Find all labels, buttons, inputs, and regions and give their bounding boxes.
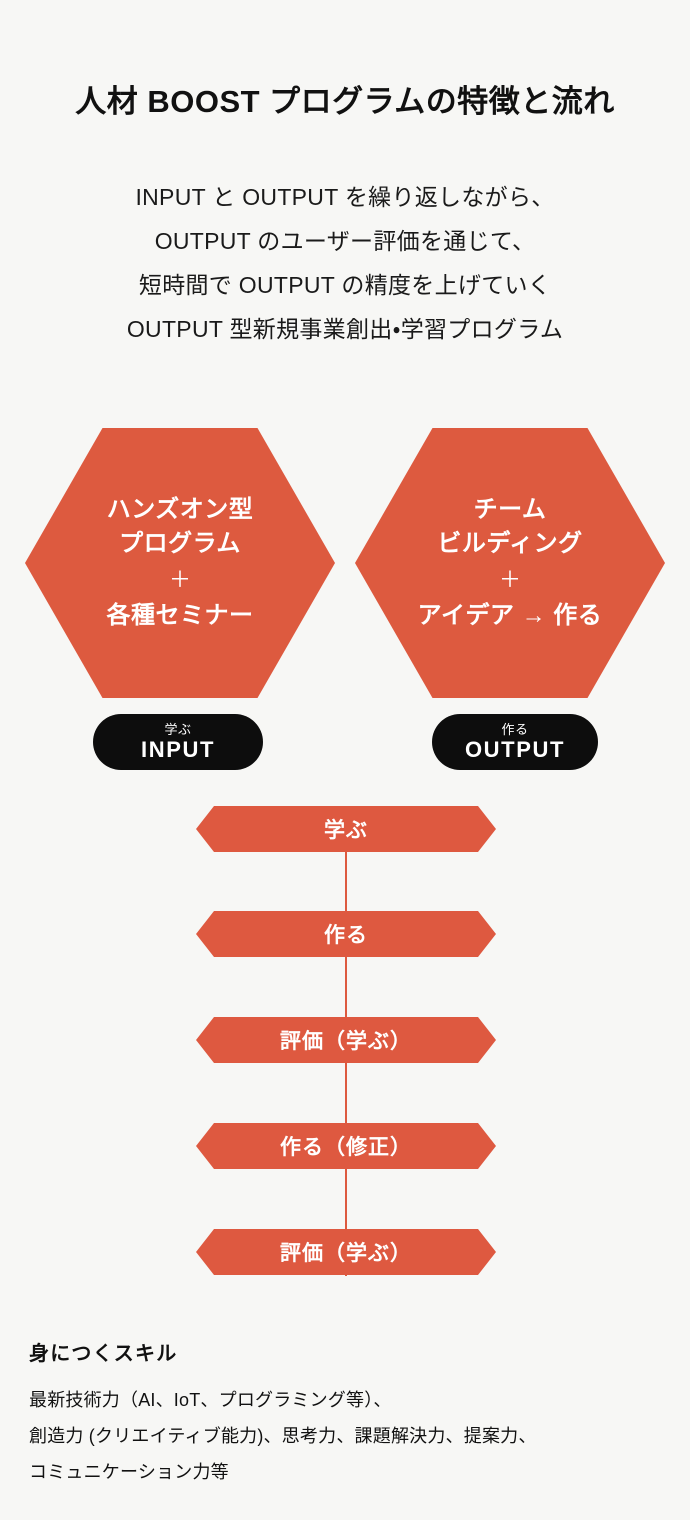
page-title: 人材 BOOST プログラムの特徴と流れ [0,83,690,122]
flow-step-3: 評価（学ぶ） [196,1017,496,1063]
hexagon-team-building: チーム ビルディング ＋ アイデア → 作る [355,428,665,698]
hexagon-hands-on: ハンズオン型 プログラム ＋ 各種セミナー [25,428,335,698]
lead-paragraph: INPUT と OUTPUT を繰り返しながら、 OUTPUT のユーザー評価を… [0,175,690,351]
hexagon-team-building-line-1: チーム [474,493,547,527]
hexagon-team-building-line-2: ビルディング [437,527,582,561]
badge-input-sub: 学ぶ [164,722,191,737]
badge-output-main: OUTPUT [465,737,565,762]
skills-line-1: 最新技術力（AI、IoT、プログラミング等）、 [29,1382,669,1418]
skills-line-2: 創造力 (クリエイティブ能力)、思考力、課題解決力、提案力、 [29,1418,669,1454]
badge-output-sub: 作る [501,722,528,737]
flow-step-2: 作る [196,911,496,957]
hexagon-group: ハンズオン型 プログラム ＋ 各種セミナー チーム ビルディング ＋ アイデア … [0,428,690,698]
badge-input-main: INPUT [141,737,215,762]
skills-section: 身につくスキル 最新技術力（AI、IoT、プログラミング等）、 創造力 (クリエ… [29,1340,669,1490]
hexagon-hands-on-line-1: ハンズオン型 [107,493,254,527]
skills-heading: 身につくスキル [29,1340,669,1368]
hexagon-hands-on-line-2: プログラム [119,527,241,561]
hexagon-hands-on-line-3: 各種セミナー [107,599,254,633]
flow-step-4: 作る（修正） [196,1123,496,1169]
badge-output: 作る OUTPUT [432,714,598,770]
skills-line-3: コミュニケーション力等 [29,1454,669,1490]
plus-icon: ＋ [499,563,521,597]
flow-step-1: 学ぶ [196,806,496,852]
badge-group: 学ぶ INPUT 作る OUTPUT [0,714,690,770]
lead-line-4: OUTPUT 型新規事業創出・学習プログラム [0,307,690,351]
infographic-page: 人材 BOOST プログラムの特徴と流れ INPUT と OUTPUT を繰り返… [0,0,690,1520]
lead-line-3: 短時間で OUTPUT の精度を上げていく [0,263,690,307]
flow-diagram: 学ぶ 作る 評価（学ぶ） 作る（修正） 評価（学ぶ） [0,806,690,1276]
lead-line-1: INPUT と OUTPUT を繰り返しながら、 [0,175,690,219]
plus-icon: ＋ [169,563,191,597]
flow-step-5: 評価（学ぶ） [196,1229,496,1275]
hexagon-team-building-line-3: アイデア → 作る [418,599,603,633]
badge-input: 学ぶ INPUT [93,714,263,770]
lead-line-2: OUTPUT のユーザー評価を通じて、 [0,219,690,263]
